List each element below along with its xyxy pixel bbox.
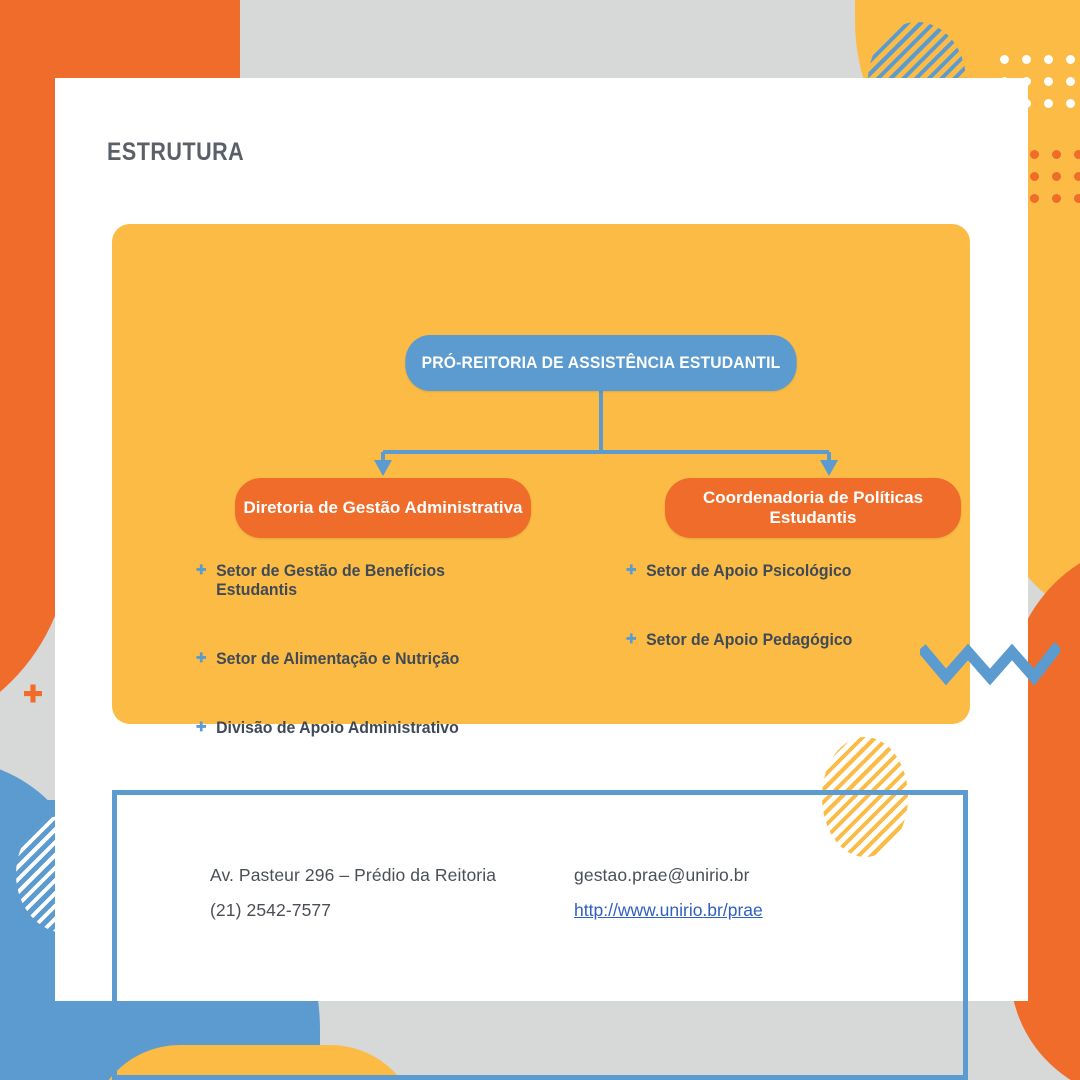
footer-column-address: Av. Pasteur 296 – Prédio da Reitoria (21… — [210, 865, 496, 921]
list-item[interactable]: Divisão de Apoio Administrativo — [195, 719, 502, 738]
footer-phone: (21) 2542-7577 — [210, 900, 496, 921]
plus-icon — [195, 652, 207, 665]
footer-email: gestao.prae@unirio.br — [574, 865, 763, 886]
list-item[interactable]: Setor de Alimentação e Nutrição — [195, 650, 502, 669]
org-node-diretoria[interactable]: Diretoria de Gestão Administrativa — [235, 478, 531, 538]
plus-icon — [195, 721, 207, 734]
plus-icon — [625, 633, 637, 646]
org-branch-list-right: Setor de Apoio Psicológico Setor de Apoi… — [625, 562, 945, 650]
footer-contact: Av. Pasteur 296 – Prédio da Reitoria (21… — [210, 865, 970, 921]
list-item-label: Setor de Apoio Psicológico — [646, 562, 851, 581]
org-node-root[interactable]: PRÓ-REITORIA DE ASSISTÊNCIA ESTUDANTIL — [405, 335, 796, 391]
footer-frame — [112, 790, 968, 1080]
plus-icon — [195, 564, 207, 577]
page-title: ESTRUTURA — [107, 138, 244, 167]
org-branch-list-left: Setor de Gestão de Benefícios Estudantis… — [195, 562, 515, 738]
org-chart-panel: PRÓ-REITORIA DE ASSISTÊNCIA ESTUDANTIL D… — [112, 224, 970, 724]
org-node-diretoria-label: Diretoria de Gestão Administrativa — [243, 498, 522, 518]
plus-icon — [22, 684, 44, 706]
list-item-label: Setor de Gestão de Benefícios Estudantis — [216, 562, 502, 600]
org-node-coordenadoria-label: Coordenadoria de Políticas Estudantis — [665, 488, 961, 528]
plus-icon — [625, 564, 637, 577]
list-item[interactable]: Setor de Gestão de Benefícios Estudantis — [195, 562, 502, 600]
footer-column-online: gestao.prae@unirio.br http://www.unirio.… — [574, 865, 763, 921]
slide-canvas: ESTRUTURA PRÓ-REITORIA DE ASSISTÊNCIA ES… — [0, 0, 1080, 1080]
list-item-label: Setor de Apoio Pedagógico — [646, 631, 852, 650]
list-item-label: Setor de Alimentação e Nutrição — [216, 650, 459, 669]
org-node-root-label: PRÓ-REITORIA DE ASSISTÊNCIA ESTUDANTIL — [422, 354, 781, 373]
org-node-coordenadoria[interactable]: Coordenadoria de Políticas Estudantis — [665, 478, 961, 538]
list-item[interactable]: Setor de Apoio Pedagógico — [625, 631, 932, 650]
footer-address: Av. Pasteur 296 – Prédio da Reitoria — [210, 865, 496, 886]
list-item[interactable]: Setor de Apoio Psicológico — [625, 562, 932, 581]
list-item-label: Divisão de Apoio Administrativo — [216, 719, 459, 738]
footer-website-link[interactable]: http://www.unirio.br/prae — [574, 900, 763, 921]
